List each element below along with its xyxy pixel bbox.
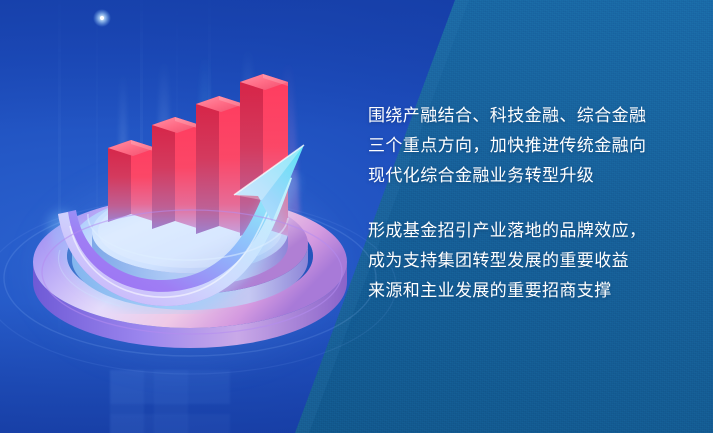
paragraph-1-line-2: 三个重点方向，加快推进传统金融向 xyxy=(368,131,678,161)
paragraph-2-line-3: 来源和主业发展的重要招商支撑 xyxy=(368,276,678,306)
bar-1 xyxy=(108,140,156,222)
paragraph-1-line-3: 现代化综合金融业务转型升级 xyxy=(368,161,678,191)
bar-2 xyxy=(152,117,200,229)
paragraph-1: 围绕产融结合、科技金融、综合金融 三个重点方向，加快推进传统金融向 现代化综合金… xyxy=(368,101,678,191)
growth-chart-illustration xyxy=(0,0,400,433)
banner-root: 围绕产融结合、科技金融、综合金融 三个重点方向，加快推进传统金融向 现代化综合金… xyxy=(0,0,713,433)
particle-dot-core xyxy=(100,16,104,20)
paragraph-2-line-1: 形成基金招引产业落地的品牌效应， xyxy=(368,216,678,246)
paragraph-1-line-1: 围绕产融结合、科技金融、综合金融 xyxy=(368,101,678,131)
paragraph-2-line-2: 成为支持集团转型发展的重要收益 xyxy=(368,246,678,276)
paragraph-2: 形成基金招引产业落地的品牌效应， 成为支持集团转型发展的重要收益 来源和主业发展… xyxy=(368,216,678,306)
